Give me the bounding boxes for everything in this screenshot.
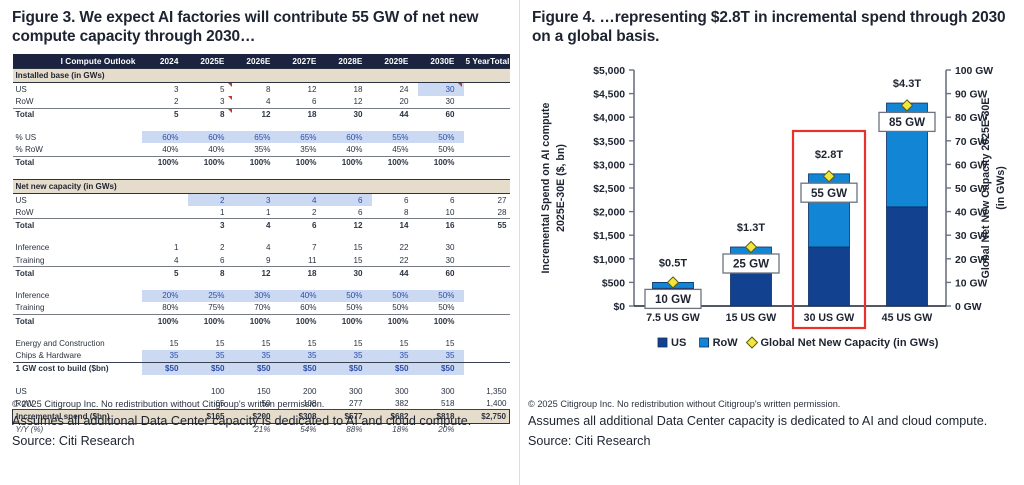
table-cell: 60%: [142, 131, 188, 143]
y-axis-tick-left: $0: [613, 302, 625, 313]
y-axis-tick-right: 10 GW: [955, 278, 988, 289]
table-cell: 1: [188, 206, 234, 219]
table-cell: 45%: [372, 143, 418, 156]
table-cell: 28: [464, 206, 510, 219]
table-row: Inference1247152230: [13, 242, 510, 254]
table-cell: [142, 385, 188, 397]
spacer-cell: [13, 121, 510, 131]
row-label: % RoW: [13, 143, 142, 156]
y-axis-tick-left: $4,500: [593, 90, 625, 101]
table-cell: 150: [234, 385, 280, 397]
table-cell: 3: [188, 219, 234, 232]
table-cell: 40%: [188, 143, 234, 156]
table-cell: 50%: [326, 290, 372, 302]
header-cell: 2028E: [326, 54, 372, 69]
figure-4-footer: © 2025 Citigroup Inc. No redistribution …: [528, 398, 1020, 449]
table-cell: 300: [372, 385, 418, 397]
y-axis-tick-left: $1,000: [593, 255, 625, 266]
table-cell: 100%: [418, 314, 464, 327]
table-spacer-row: [13, 169, 510, 180]
table-cell: [464, 350, 510, 363]
table-cell: [142, 194, 188, 207]
table-cell: 60: [418, 108, 464, 121]
table-cell: 80%: [142, 302, 188, 315]
table-cell: 35: [326, 350, 372, 363]
table-cell: 30: [418, 242, 464, 254]
row-label: Energy and Construction: [13, 337, 142, 349]
table-cell: 65%: [234, 131, 280, 143]
table-header-row: I Compute Outlook20242025E2026E2027E2028…: [13, 54, 510, 69]
table-cell: 200: [280, 385, 326, 397]
table-cell: [464, 337, 510, 349]
bar-total-label: $1.3T: [737, 222, 765, 234]
legend-swatch: [747, 337, 758, 348]
row-label: US: [13, 385, 142, 397]
table-cell: $50: [188, 362, 234, 375]
row-label: 1 GW cost to build ($bn): [13, 362, 142, 375]
y-axis-tick-left: $1,500: [593, 231, 625, 242]
table-spacer-row: [13, 232, 510, 242]
table-cell: 44: [372, 267, 418, 280]
table-cell: 30%: [234, 290, 280, 302]
y-axis-tick-left: $2,500: [593, 184, 625, 195]
table-cell: 35: [188, 350, 234, 363]
table-cell: 16: [418, 219, 464, 232]
table-cell: 2: [188, 242, 234, 254]
row-label: Chips & Hardware: [13, 350, 142, 363]
table-cell: 55: [464, 219, 510, 232]
table-cell: 6: [326, 206, 372, 219]
legend-label: US: [671, 337, 686, 349]
table-cell: 30: [326, 267, 372, 280]
spacer-cell: [13, 327, 510, 337]
bar-segment-us: [809, 247, 850, 306]
bar-total-label: $0.5T: [659, 257, 687, 269]
table-cell: 20: [372, 96, 418, 109]
copyright-left: © 2025 Citigroup Inc. No redistribution …: [12, 398, 512, 410]
table-cell: 100%: [280, 156, 326, 169]
table-cell: 30: [418, 96, 464, 109]
table-cell: [464, 242, 510, 254]
table-cell: $50: [234, 362, 280, 375]
bar-segment-us: [887, 207, 928, 306]
table-cell: $50: [326, 362, 372, 375]
table-row: RoW112681028: [13, 206, 510, 219]
table-cell: [464, 96, 510, 109]
table-cell: $50: [280, 362, 326, 375]
table-cell: 50%: [418, 143, 464, 156]
table-spacer-row: [13, 327, 510, 337]
table-cell: 4: [142, 254, 188, 267]
table-cell: 15: [142, 337, 188, 349]
table-row: Training80%75%70%60%50%50%50%: [13, 302, 510, 315]
table-spacer-row: [13, 375, 510, 385]
y-axis-tick-left: $3,500: [593, 137, 625, 148]
spacer-cell: [13, 375, 510, 385]
table-cell: 1: [142, 242, 188, 254]
capacity-callout-label: 55 GW: [811, 187, 847, 200]
section-label: Installed base (in GWs): [13, 69, 510, 83]
capacity-callout-label: 25 GW: [733, 258, 769, 271]
table-cell: 100%: [372, 156, 418, 169]
row-label: RoW: [13, 96, 142, 109]
source-left: Source: Citi Research: [12, 433, 512, 449]
ai-compute-outlook-table: I Compute Outlook20242025E2026E2027E2028…: [12, 54, 510, 436]
table-cell: 30: [326, 108, 372, 121]
bar-total-label: $2.8T: [815, 149, 843, 161]
table-cell: 100%: [188, 156, 234, 169]
table-cell: 3: [188, 96, 234, 109]
table-cell: 22: [372, 254, 418, 267]
table-cell: 8: [372, 206, 418, 219]
table-cell: 100%: [326, 156, 372, 169]
row-label: US: [13, 194, 142, 207]
table-spacer-row: [13, 121, 510, 131]
table-cell: 27: [464, 194, 510, 207]
y-axis-tick-left: $500: [602, 278, 625, 289]
table-cell: 50%: [326, 302, 372, 315]
table-row: US35812182430: [13, 83, 510, 96]
table-cell: [464, 302, 510, 315]
table-section-header: Net new capacity (in GWs): [13, 179, 510, 193]
table-cell: 100%: [234, 156, 280, 169]
table-row: % US60%60%65%65%60%55%50%: [13, 131, 510, 143]
table-cell: 6: [372, 194, 418, 207]
y-axis-tick-left: $4,000: [593, 113, 625, 124]
table-cell: $50: [142, 362, 188, 375]
table-cell: 12: [234, 108, 280, 121]
table-cell: 15: [234, 337, 280, 349]
row-label: RoW: [13, 206, 142, 219]
table-cell: 50%: [418, 290, 464, 302]
table-cell: 22: [372, 242, 418, 254]
table-cell: 100%: [326, 314, 372, 327]
table-cell: 25%: [188, 290, 234, 302]
table-cell: 15: [372, 337, 418, 349]
table-cell: 15: [418, 337, 464, 349]
header-cell: 2027E: [280, 54, 326, 69]
capacity-callout-label: 85 GW: [889, 116, 925, 129]
table-cell: 30: [418, 83, 464, 96]
table-cell: [464, 267, 510, 280]
row-label: Inference: [13, 290, 142, 302]
table-row: Total581218304460: [13, 267, 510, 280]
table-row: Training46911152230: [13, 254, 510, 267]
table-cell: 100%: [418, 156, 464, 169]
row-label: Total: [13, 314, 142, 327]
table-cell: 10: [418, 206, 464, 219]
table-row: Chips & Hardware35353535353535: [13, 350, 510, 363]
table-cell: 2: [142, 96, 188, 109]
header-cell: 5 YearTotal: [464, 54, 510, 69]
row-label: % US: [13, 131, 142, 143]
legend-label: Global Net New Capacity (in GWs): [761, 337, 939, 349]
table-cell: [464, 83, 510, 96]
table-cell: 75%: [188, 302, 234, 315]
table-cell: 300: [418, 385, 464, 397]
row-label: Training: [13, 302, 142, 315]
table-cell: 6: [280, 96, 326, 109]
table-cell: 50%: [372, 290, 418, 302]
legend-swatch: [658, 338, 667, 347]
incremental-spend-chart: $0$500$1,000$1,500$2,000$2,500$3,000$3,5…: [526, 58, 1020, 358]
legend-swatch: [700, 338, 709, 347]
bar-total-label: $4.3T: [893, 78, 921, 90]
figure-3-title: Figure 3. We expect AI factories will co…: [12, 8, 510, 46]
section-label: Net new capacity (in GWs): [13, 179, 510, 193]
table-cell: 35: [280, 350, 326, 363]
table-cell: [142, 206, 188, 219]
table-cell: 100%: [234, 314, 280, 327]
header-cell: 2025E: [188, 54, 234, 69]
row-label: Total: [13, 156, 142, 169]
table-cell: 35: [142, 350, 188, 363]
table-cell: 15: [326, 254, 372, 267]
table-cell: [464, 254, 510, 267]
table-cell: 4: [234, 242, 280, 254]
y-axis-tick-left: $3,000: [593, 160, 625, 171]
table-cell: 100%: [188, 314, 234, 327]
spacer-cell: [13, 279, 510, 289]
figures-page: Figure 3. We expect AI factories will co…: [0, 0, 1024, 485]
copyright-right: © 2025 Citigroup Inc. No redistribution …: [528, 398, 1020, 410]
table-cell: 300: [326, 385, 372, 397]
table-cell: [464, 314, 510, 327]
table-row: US1001502003003003001,350: [13, 385, 510, 397]
table-cell: 50%: [372, 302, 418, 315]
table-row: Total100%100%100%100%100%100%100%: [13, 156, 510, 169]
table-cell: 2: [280, 206, 326, 219]
row-label: Total: [13, 219, 142, 232]
table-cell: 15: [280, 337, 326, 349]
table-cell: 8: [234, 83, 280, 96]
table-cell: 6: [280, 219, 326, 232]
table-row: US23466627: [13, 194, 510, 207]
header-cell: 2026E: [234, 54, 280, 69]
table-cell: 55%: [372, 131, 418, 143]
row-label: Training: [13, 254, 142, 267]
figure-4-title: Figure 4. …representing $2.8T in increme…: [526, 8, 1018, 46]
table-cell: 20%: [142, 290, 188, 302]
table-cell: 15: [326, 337, 372, 349]
table-cell: 3: [234, 194, 280, 207]
table-cell: [464, 156, 510, 169]
table-cell: 15: [188, 337, 234, 349]
table-cell: 35: [234, 350, 280, 363]
table-row: 1 GW cost to build ($bn)$50$50$50$50$50$…: [13, 362, 510, 375]
table-cell: 12: [326, 219, 372, 232]
table-cell: 60: [418, 267, 464, 280]
table-cell: 4: [280, 194, 326, 207]
table-cell: 6: [418, 194, 464, 207]
table-cell: 35: [372, 350, 418, 363]
table-row: Total581218304460: [13, 108, 510, 121]
table-cell: 18: [280, 267, 326, 280]
row-label: Inference: [13, 242, 142, 254]
row-label: Total: [13, 108, 142, 121]
header-cell: 2024: [142, 54, 188, 69]
y-axis-label-left: Incremental Spend on AI compute2025E-30E…: [540, 102, 567, 273]
table-row: Total100%100%100%100%100%100%100%: [13, 314, 510, 327]
table-row: % RoW40%40%35%35%40%45%50%: [13, 143, 510, 156]
table-cell: 60%: [280, 302, 326, 315]
table-cell: 7: [280, 242, 326, 254]
x-axis-category-label: 30 US GW: [804, 312, 855, 324]
table-cell: 3: [142, 83, 188, 96]
x-axis-category-label: 7.5 US GW: [646, 312, 700, 324]
assumption-note-left: Assumes all additional Data Center capac…: [12, 413, 512, 429]
table-cell: 5: [142, 267, 188, 280]
table-cell: 65%: [280, 131, 326, 143]
table-cell: 9: [234, 254, 280, 267]
legend-label: RoW: [713, 337, 739, 349]
table-cell: $50: [372, 362, 418, 375]
table-cell: 6: [188, 254, 234, 267]
table-spacer-row: [13, 279, 510, 289]
table-cell: 18: [280, 108, 326, 121]
table-cell: 50%: [418, 131, 464, 143]
table-row: Energy and Construction15151515151515: [13, 337, 510, 349]
table-cell: 5: [142, 108, 188, 121]
table-cell: [464, 362, 510, 375]
row-label: Total: [13, 267, 142, 280]
table-cell: 2: [188, 194, 234, 207]
table-cell: 100%: [280, 314, 326, 327]
table-cell: 8: [188, 108, 234, 121]
x-axis-category-label: 15 US GW: [726, 312, 777, 324]
spacer-cell: [13, 169, 510, 180]
assumption-note-right: Assumes all additional Data Center capac…: [528, 413, 1020, 429]
table-cell: 1,350: [464, 385, 510, 397]
header-cell: I Compute Outlook: [13, 54, 142, 69]
table-cell: 8: [188, 267, 234, 280]
spacer-cell: [13, 232, 510, 242]
table-cell: 40%: [142, 143, 188, 156]
table-cell: 100: [188, 385, 234, 397]
table-cell: 24: [372, 83, 418, 96]
table-row: Inference20%25%30%40%50%50%50%: [13, 290, 510, 302]
table-cell: 5: [188, 83, 234, 96]
table-cell: 14: [372, 219, 418, 232]
table-cell: 4: [234, 96, 280, 109]
table-cell: 100%: [142, 314, 188, 327]
header-cell: 2030E: [418, 54, 464, 69]
table-cell: 12: [326, 96, 372, 109]
table-cell: 44: [372, 108, 418, 121]
table-cell: [464, 143, 510, 156]
table-cell: [464, 131, 510, 143]
table-cell: 40%: [326, 143, 372, 156]
row-label: US: [13, 83, 142, 96]
header-cell: 2029E: [372, 54, 418, 69]
table-cell: 4: [234, 219, 280, 232]
table-cell: [142, 219, 188, 232]
table-cell: 35: [418, 350, 464, 363]
table-cell: 12: [234, 267, 280, 280]
table-cell: 18: [326, 83, 372, 96]
figure-3-footer: © 2025 Citigroup Inc. No redistribution …: [12, 398, 512, 449]
table-cell: 1: [234, 206, 280, 219]
table-cell: 11: [280, 254, 326, 267]
table-cell: 40%: [280, 290, 326, 302]
table-cell: 100%: [372, 314, 418, 327]
y-axis-tick-right: 100 GW: [955, 66, 993, 77]
x-axis-category-label: 45 US GW: [882, 312, 933, 324]
table-row: RoW2346122030: [13, 96, 510, 109]
table-cell: 100%: [142, 156, 188, 169]
table-row: Total34612141655: [13, 219, 510, 232]
table-cell: 60%: [188, 131, 234, 143]
table-cell: 35%: [280, 143, 326, 156]
table-cell: [464, 108, 510, 121]
table-cell: 6: [326, 194, 372, 207]
table-cell: 50%: [418, 302, 464, 315]
y-axis-label-right: Global Net New Capacity 2025E-30E(in GWs…: [980, 98, 1007, 279]
table-section-header: Installed base (in GWs): [13, 69, 510, 83]
table-cell: 15: [326, 242, 372, 254]
table-cell: 12: [280, 83, 326, 96]
source-right: Source: Citi Research: [528, 433, 1020, 449]
y-axis-tick-left: $5,000: [593, 66, 625, 77]
table-cell: $50: [418, 362, 464, 375]
table-cell: 30: [418, 254, 464, 267]
table-cell: 60%: [326, 131, 372, 143]
table-cell: [464, 290, 510, 302]
chart-svg: $0$500$1,000$1,500$2,000$2,500$3,000$3,5…: [526, 58, 1020, 358]
table-cell: 35%: [234, 143, 280, 156]
capacity-callout-label: 10 GW: [655, 293, 691, 306]
y-axis-tick-right: 0 GW: [955, 302, 982, 313]
table-cell: 70%: [234, 302, 280, 315]
y-axis-tick-left: $2,000: [593, 208, 625, 219]
